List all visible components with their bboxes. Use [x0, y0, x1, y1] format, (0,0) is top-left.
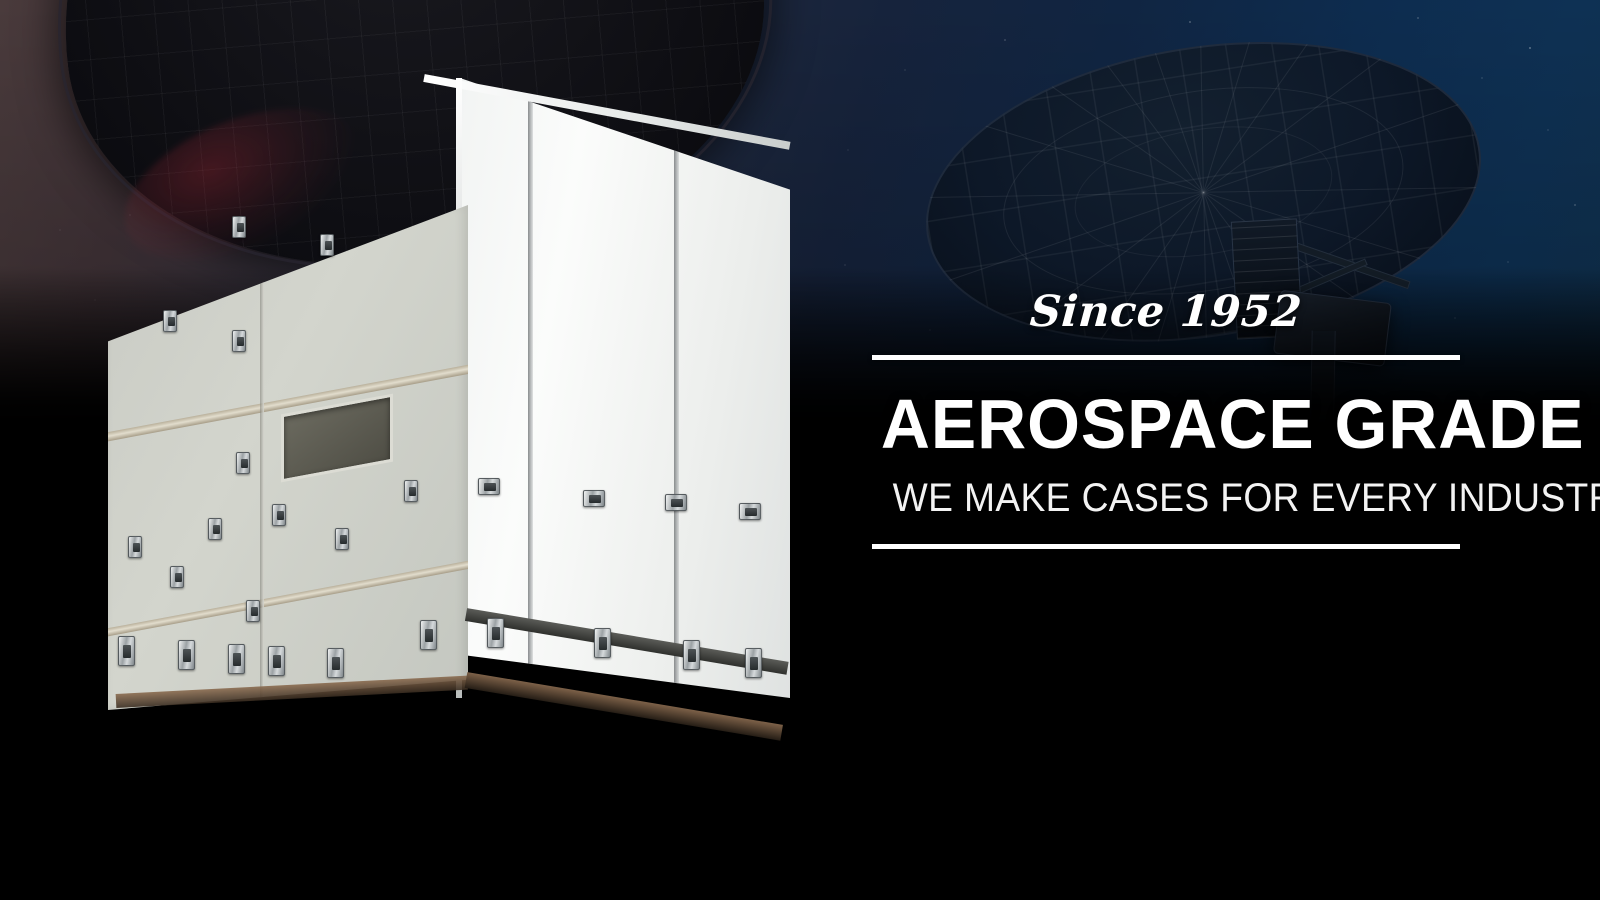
case-latch — [163, 310, 177, 332]
eyebrow-since-text: Since 1952 — [870, 286, 1462, 338]
case-toggle-latch — [178, 640, 195, 670]
case-latch — [404, 480, 418, 502]
case-latch — [128, 536, 142, 558]
case-latch — [335, 528, 349, 550]
case-latch — [478, 478, 500, 495]
case-latch — [320, 234, 334, 256]
case-latch — [232, 330, 246, 352]
divider-rule-bottom — [872, 544, 1460, 549]
case-toggle-latch — [268, 646, 285, 676]
case-toggle-latch — [683, 640, 700, 670]
case-panel-seam — [674, 78, 679, 718]
case-latch — [665, 494, 687, 511]
case-latch — [246, 600, 260, 622]
case-toggle-latch — [745, 648, 762, 678]
case-latch — [583, 490, 605, 507]
case-latch — [236, 452, 250, 474]
case-panel-seam — [260, 205, 264, 710]
hero-banner: Since 1952 AEROSPACE GRADE WE MAKE CASES… — [0, 0, 1600, 900]
case-toggle-latch — [228, 644, 245, 674]
case-toggle-latch — [327, 648, 344, 678]
case-latch — [208, 518, 222, 540]
hero-copy-block: Since 1952 AEROSPACE GRADE WE MAKE CASES… — [872, 286, 1460, 549]
case-face-right — [460, 78, 790, 698]
case-toggle-latch — [594, 628, 611, 658]
aerospace-case-image — [0, 0, 860, 760]
case-latch — [170, 566, 184, 588]
page-title: AEROSPACE GRADE — [881, 384, 1451, 464]
divider-rule-top — [872, 355, 1460, 360]
case-latch — [272, 504, 286, 526]
case-toggle-latch — [420, 620, 437, 650]
case-toggle-latch — [118, 636, 135, 666]
page-subtitle: WE MAKE CASES FOR EVERY INDUSTRY — [893, 474, 1440, 522]
case-latch — [739, 503, 761, 520]
case-latch — [232, 216, 246, 238]
case-toggle-latch — [487, 618, 504, 648]
